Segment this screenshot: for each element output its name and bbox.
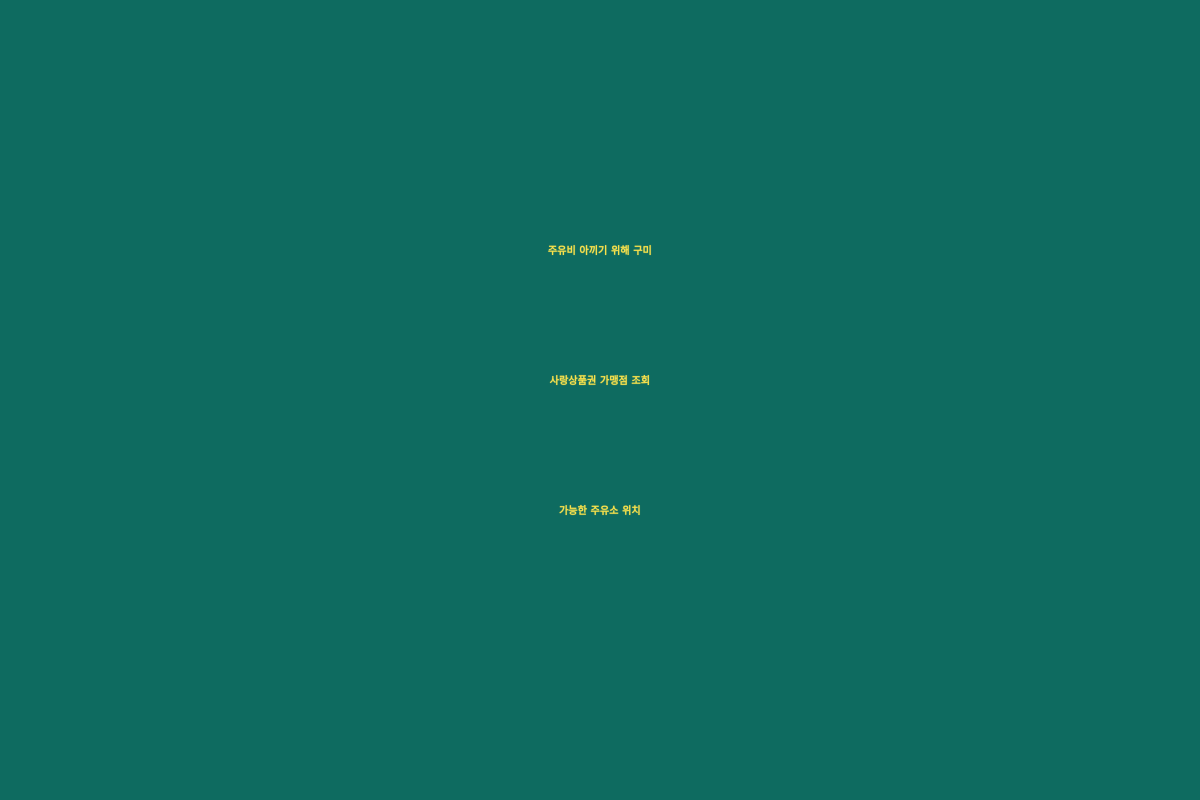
headline-line-2: 사랑상품권 가맹점 조회 (0, 317, 1200, 447)
headline-line-1: 주유비 아끼기 위해 구미 (0, 187, 1200, 317)
headline-line-3: 가능한 주유소 위치 (0, 447, 1200, 577)
headline-block: 주유비 아끼기 위해 구미 사랑상품권 가맹점 조회 가능한 주유소 위치 (0, 187, 1200, 577)
thumbnail-canvas: 주유비 아끼기 위해 구미 사랑상품권 가맹점 조회 가능한 주유소 위치 (0, 0, 1200, 800)
